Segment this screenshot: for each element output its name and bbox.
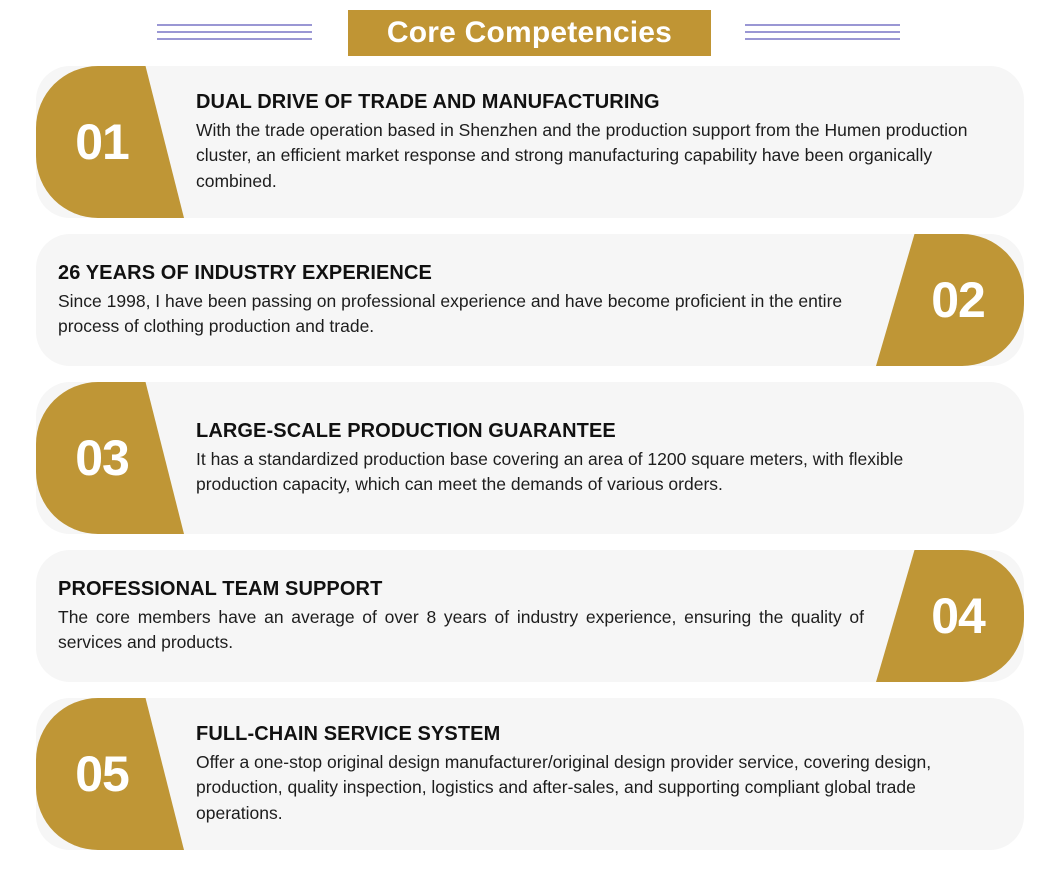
card-body: Offer a one-stop original design manufac… [196, 750, 984, 826]
rule-line [745, 24, 900, 26]
rule-line [745, 31, 900, 33]
core-competencies-infographic: Core Competencies 01DUAL DRIVE OF TRADE … [0, 0, 1060, 869]
header: Core Competencies [0, 0, 1060, 66]
card-body: Since 1998, I have been passing on profe… [58, 289, 864, 340]
card-number: 03 [75, 433, 129, 483]
card-inner: 03LARGE-SCALE PRODUCTION GUARANTEEIt has… [36, 382, 1024, 534]
card-inner: PROFESSIONAL TEAM SUPPORTThe core member… [36, 550, 1024, 682]
card-content: PROFESSIONAL TEAM SUPPORTThe core member… [36, 550, 1024, 682]
card-body: The core members have an average of over… [58, 605, 864, 656]
card-inner: 26 YEARS OF INDUSTRY EXPERIENCESince 199… [36, 234, 1024, 366]
competency-card: PROFESSIONAL TEAM SUPPORTThe core member… [36, 550, 1024, 682]
decorative-rule-right [745, 24, 900, 43]
card-body: It has a standardized production base co… [196, 447, 984, 498]
card-content: LARGE-SCALE PRODUCTION GUARANTEEIt has a… [36, 382, 1024, 534]
card-content: FULL-CHAIN SERVICE SYSTEMOffer a one-sto… [36, 698, 1024, 850]
card-inner: 05FULL-CHAIN SERVICE SYSTEMOffer a one-s… [36, 698, 1024, 850]
card-number: 02 [931, 275, 985, 325]
competency-card-list: 01DUAL DRIVE OF TRADE AND MANUFACTURINGW… [0, 66, 1060, 866]
card-content: 26 YEARS OF INDUSTRY EXPERIENCESince 199… [36, 234, 1024, 366]
card-content: DUAL DRIVE OF TRADE AND MANUFACTURINGWit… [36, 66, 1024, 218]
rule-line [157, 38, 312, 40]
card-body: With the trade operation based in Shenzh… [196, 118, 984, 194]
competency-card: 05FULL-CHAIN SERVICE SYSTEMOffer a one-s… [36, 698, 1024, 850]
card-number: 01 [75, 117, 129, 167]
card-title: LARGE-SCALE PRODUCTION GUARANTEE [196, 419, 984, 444]
decorative-rule-left [157, 24, 312, 43]
card-title: 26 YEARS OF INDUSTRY EXPERIENCE [58, 261, 864, 286]
card-title: PROFESSIONAL TEAM SUPPORT [58, 577, 864, 602]
page-title: Core Competencies [387, 18, 672, 48]
competency-card: 01DUAL DRIVE OF TRADE AND MANUFACTURINGW… [36, 66, 1024, 218]
competency-card: 03LARGE-SCALE PRODUCTION GUARANTEEIt has… [36, 382, 1024, 534]
rule-line [157, 31, 312, 33]
rule-line [745, 38, 900, 40]
card-number: 05 [75, 749, 129, 799]
card-inner: 01DUAL DRIVE OF TRADE AND MANUFACTURINGW… [36, 66, 1024, 218]
title-banner: Core Competencies [348, 10, 711, 56]
competency-card: 26 YEARS OF INDUSTRY EXPERIENCESince 199… [36, 234, 1024, 366]
card-title: FULL-CHAIN SERVICE SYSTEM [196, 722, 984, 747]
card-title: DUAL DRIVE OF TRADE AND MANUFACTURING [196, 90, 984, 115]
rule-line [157, 24, 312, 26]
card-number: 04 [931, 591, 985, 641]
